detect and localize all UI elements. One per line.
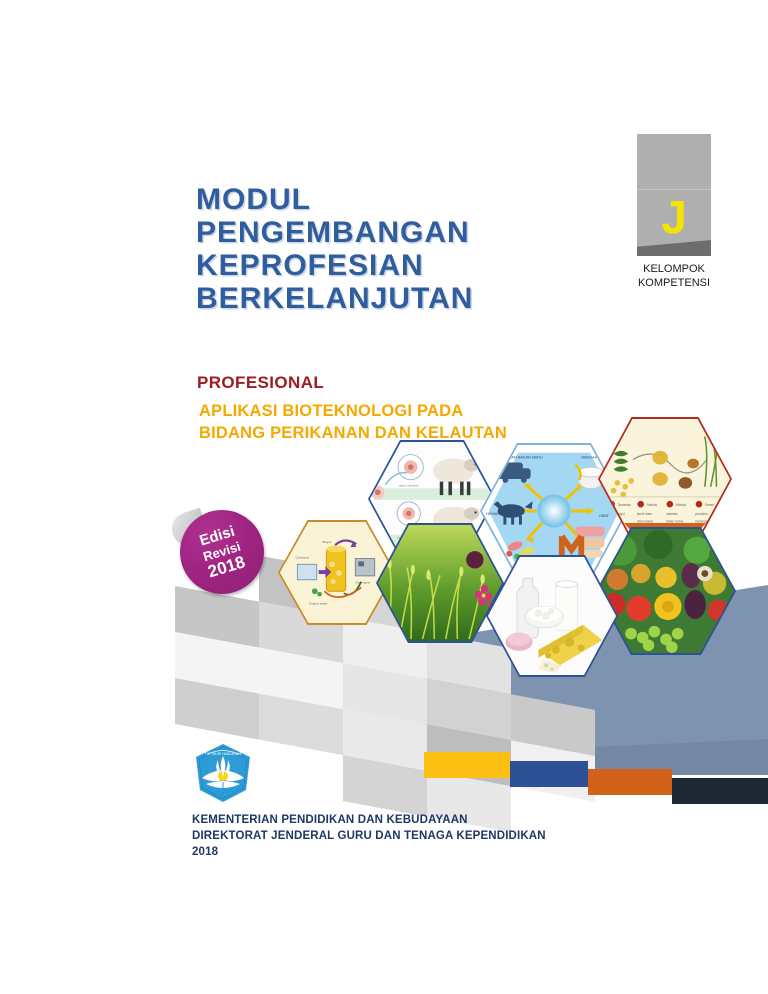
svg-text:Biogas: Biogas xyxy=(323,540,332,544)
svg-text:Organic waste: Organic waste xyxy=(309,602,328,606)
color-bar-blue xyxy=(510,761,588,787)
footer-line-2: DIREKTORAT JENDERAL GURU DAN TENAGA KEPE… xyxy=(192,828,546,844)
svg-text:donor nucleus: donor nucleus xyxy=(399,483,419,487)
color-bar-dark xyxy=(672,778,768,804)
badge-box: J xyxy=(637,134,711,256)
svg-text:Hibrida: Hibrida xyxy=(676,503,687,507)
svg-text:produksi: produksi xyxy=(695,512,708,516)
badge-caption-line-2: KOMPETENSI xyxy=(637,276,711,290)
title-line-4: BERKELANJUTAN xyxy=(196,282,626,315)
footer-line-1: KEMENTERIAN PENDIDIKAN DAN KEBUDAYAAN xyxy=(192,812,546,828)
footer-text: KEMENTERIAN PENDIDIKAN DAN KEBUDAYAAN DI… xyxy=(192,812,546,860)
logo-motto-text: TUT WURI HANDAYANI xyxy=(205,752,242,756)
title-line-3: KEPROFESIAN xyxy=(196,249,626,282)
svg-text:tahan hama: tahan hama xyxy=(666,520,684,524)
svg-text:varietas: varietas xyxy=(666,512,678,516)
svg-text:Panen: Panen xyxy=(705,503,715,507)
svg-text:Cowhouse: Cowhouse xyxy=(295,556,309,560)
svg-text:hasil silang: hasil silang xyxy=(637,520,653,524)
edition-sticker: Edisi Revisi 2018 xyxy=(176,508,268,600)
color-bar-orange xyxy=(588,769,672,795)
footer-line-3: 2018 xyxy=(192,844,546,860)
hexagon-biogas-process: Cowhouse Biogas Gas engine Organic waste xyxy=(278,520,396,625)
svg-text:Tanaman: Tanaman xyxy=(617,503,631,507)
svg-text:HEWAN: HEWAN xyxy=(486,511,500,516)
svg-text:benih baru: benih baru xyxy=(637,512,653,516)
svg-text:Gas engine: Gas engine xyxy=(355,581,370,585)
title-line-2: PENGEMBANGAN xyxy=(196,216,626,249)
svg-text:Seleksi: Seleksi xyxy=(647,503,658,507)
category-label: PROFESIONAL xyxy=(197,373,324,393)
svg-text:OBAT: OBAT xyxy=(599,513,610,518)
color-bar-yellow xyxy=(424,752,510,778)
page-title: MODUL PENGEMBANGAN KEPROFESIAN BERKELANJ… xyxy=(196,183,626,315)
color-bar-strip xyxy=(424,752,768,792)
tut-wuri-handayani-logo: TUT WURI HANDAYANI xyxy=(192,742,254,804)
competency-badge: J KELOMPOK KOMPETENSI xyxy=(637,134,711,290)
badge-caption-line-1: KELOMPOK xyxy=(637,262,711,276)
badge-letter: J xyxy=(637,194,711,240)
document-cover-page: MODUL PENGEMBANGAN KEPROFESIAN BERKELANJ… xyxy=(0,0,768,994)
svg-text:BAHAN BAKAR BARU: BAHAN BAKAR BARU xyxy=(503,455,543,460)
svg-text:meningkat: meningkat xyxy=(695,520,710,524)
svg-text:Skin cell: Skin cell xyxy=(376,453,388,457)
svg-text:MENGHASILKAN: MENGHASILKAN xyxy=(581,455,612,460)
title-line-1: MODUL xyxy=(196,183,626,216)
badge-seam xyxy=(637,189,711,190)
badge-caption: KELOMPOK KOMPETENSI xyxy=(637,262,711,290)
hexagon-vegetables xyxy=(596,527,736,655)
hexagon-image-cluster: Cowhouse Biogas Gas engine Organic waste xyxy=(268,415,768,705)
hexagon-dairy-cheese xyxy=(486,555,618,677)
